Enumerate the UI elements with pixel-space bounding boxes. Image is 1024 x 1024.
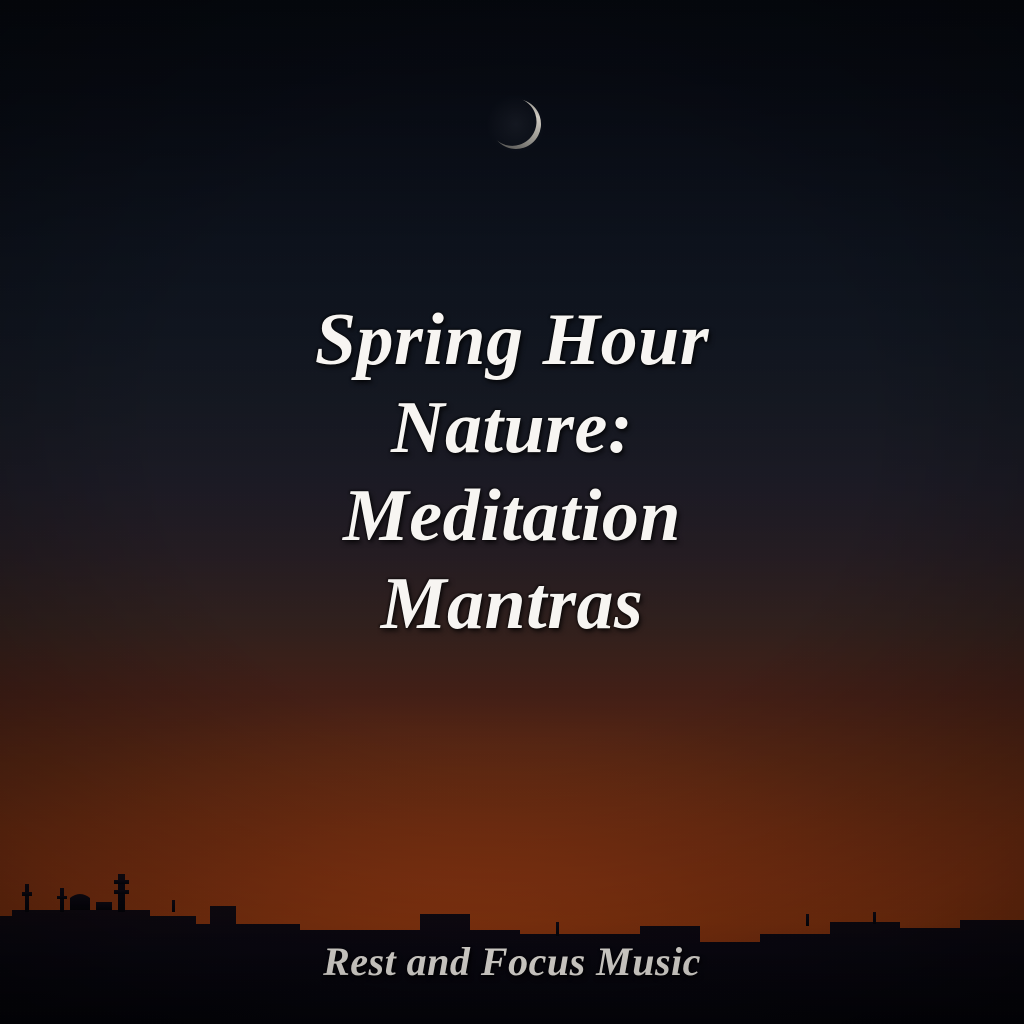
album-cover: Spring Hour Nature: Meditation Mantras [0,0,1024,1024]
crescent-moon-icon [479,87,552,160]
page-title: Spring Hour Nature: Meditation Mantras [0,296,1024,648]
city-skyline-silhouette [0,864,1024,1024]
title-line-1: Spring Hour [0,296,1024,384]
skyline-shapes [0,874,1024,1024]
title-line-4: Mantras [0,560,1024,648]
crescent-moon [479,87,552,160]
title-line-2: Nature: [0,384,1024,472]
title-line-3: Meditation [0,472,1024,560]
